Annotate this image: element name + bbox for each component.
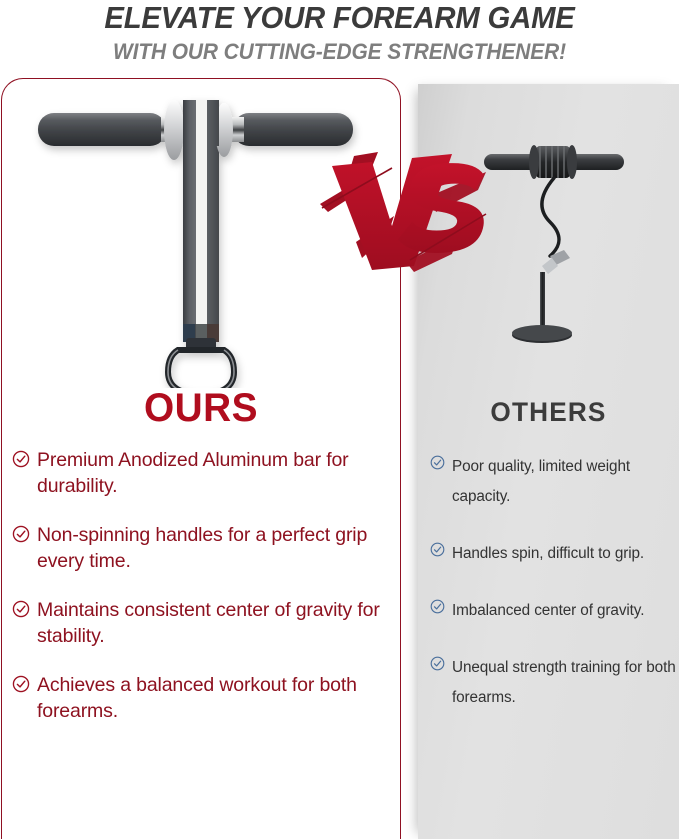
list-item-text: Poor quality, limited weight capacity. <box>452 452 678 512</box>
list-item: Handles spin, difficult to grip. <box>430 539 678 569</box>
check-circle-icon <box>430 656 445 671</box>
header: ELEVATE YOUR FOREARM GAME WITH OUR CUTTI… <box>0 0 679 72</box>
check-circle-icon <box>12 525 30 543</box>
list-item: Non-spinning handles for a perfect grip … <box>12 522 400 574</box>
page-title: ELEVATE YOUR FOREARM GAME <box>14 1 666 36</box>
others-drawback-list: Poor quality, limited weight capacity. H… <box>430 452 678 740</box>
list-item-text: Premium Anodized Aluminum bar for durabi… <box>37 447 400 499</box>
infographic-root: ELEVATE YOUR FOREARM GAME WITH OUR CUTTI… <box>0 0 679 839</box>
ours-benefit-list: Premium Anodized Aluminum bar for durabi… <box>12 447 400 747</box>
list-item-text: Imbalanced center of gravity. <box>452 596 644 626</box>
check-circle-icon <box>430 599 445 614</box>
list-item-text: Maintains consistent center of gravity f… <box>37 597 400 649</box>
page-subtitle: WITH OUR CUTTING-EDGE STRENGTHENER! <box>17 39 662 65</box>
list-item: Unequal strength training for both forea… <box>430 653 678 713</box>
check-circle-icon <box>12 675 30 693</box>
check-circle-icon <box>12 450 30 468</box>
list-item-text: Handles spin, difficult to grip. <box>452 539 644 569</box>
vs-badge <box>318 150 498 272</box>
check-circle-icon <box>430 542 445 557</box>
check-circle-icon <box>12 600 30 618</box>
list-item: Premium Anodized Aluminum bar for durabi… <box>12 447 400 499</box>
ours-product-image <box>18 88 363 388</box>
ours-title: OURS <box>7 386 395 431</box>
list-item: Poor quality, limited weight capacity. <box>430 452 678 512</box>
others-title: OTHERS <box>422 397 675 428</box>
list-item: Maintains consistent center of gravity f… <box>12 597 400 649</box>
list-item: Imbalanced center of gravity. <box>430 596 678 626</box>
list-item-text: Non-spinning handles for a perfect grip … <box>37 522 400 574</box>
list-item: Achieves a balanced workout for both for… <box>12 672 400 724</box>
list-item-text: Unequal strength training for both forea… <box>452 653 678 713</box>
list-item-text: Achieves a balanced workout for both for… <box>37 672 400 724</box>
check-circle-icon <box>430 455 445 470</box>
